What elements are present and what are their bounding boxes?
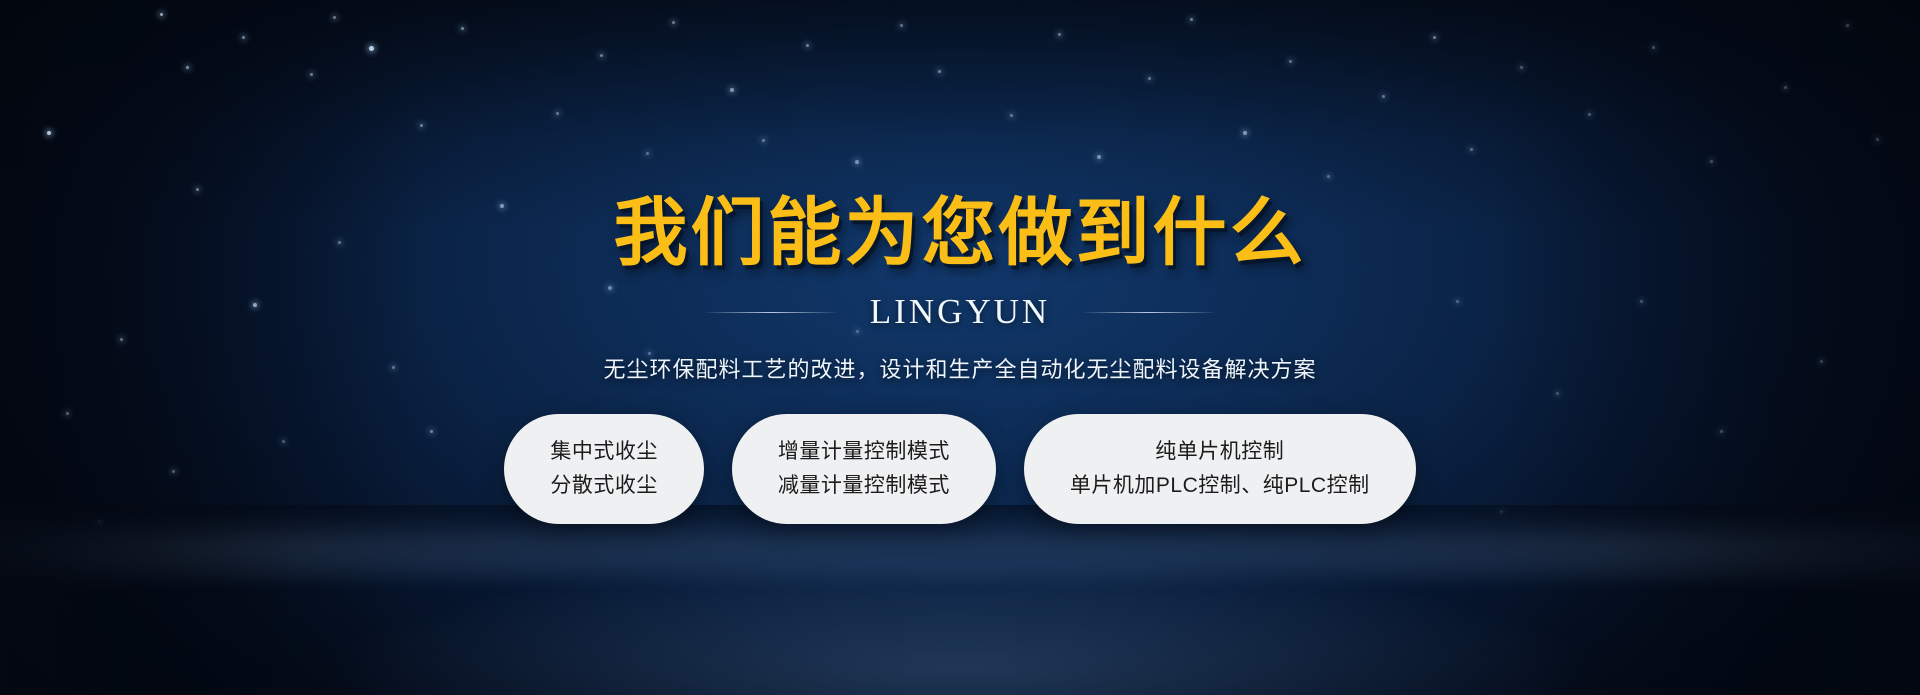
divider-line-right-icon: [1084, 312, 1214, 313]
brand-name-en: LINGYUN: [870, 292, 1050, 332]
feature-card-line: 增量计量控制模式: [778, 440, 950, 464]
divider-line-left-icon: [706, 312, 836, 313]
perspective-dot-grid-wave: [0, 505, 1920, 695]
page-title: 我们能为您做到什么: [614, 196, 1307, 270]
feature-card-line: 减量计量控制模式: [778, 474, 950, 498]
feature-card-metering-mode[interactable]: 增量计量控制模式减量计量控制模式: [732, 414, 996, 524]
feature-card-line: 分散式收尘: [550, 474, 658, 498]
feature-card-line: 单片机加PLC控制、纯PLC控制: [1070, 474, 1370, 498]
hero-banner: 我们能为您做到什么 LINGYUN 无尘环保配料工艺的改进，设计和生产全自动化无…: [0, 0, 1920, 695]
banner-content: 我们能为您做到什么 LINGYUN 无尘环保配料工艺的改进，设计和生产全自动化无…: [0, 0, 1920, 524]
feature-card-line: 集中式收尘: [550, 440, 658, 464]
feature-card-control-system[interactable]: 纯单片机控制单片机加PLC控制、纯PLC控制: [1024, 414, 1416, 524]
feature-card-line: 纯单片机控制: [1155, 440, 1284, 464]
feature-card-dust-collection[interactable]: 集中式收尘分散式收尘: [504, 414, 704, 524]
banner-description: 无尘环保配料工艺的改进，设计和生产全自动化无尘配料设备解决方案: [603, 352, 1316, 384]
brand-subtitle-row: LINGYUN: [706, 292, 1214, 332]
feature-card-list: 集中式收尘分散式收尘增量计量控制模式减量计量控制模式纯单片机控制单片机加PLC控…: [504, 414, 1415, 524]
